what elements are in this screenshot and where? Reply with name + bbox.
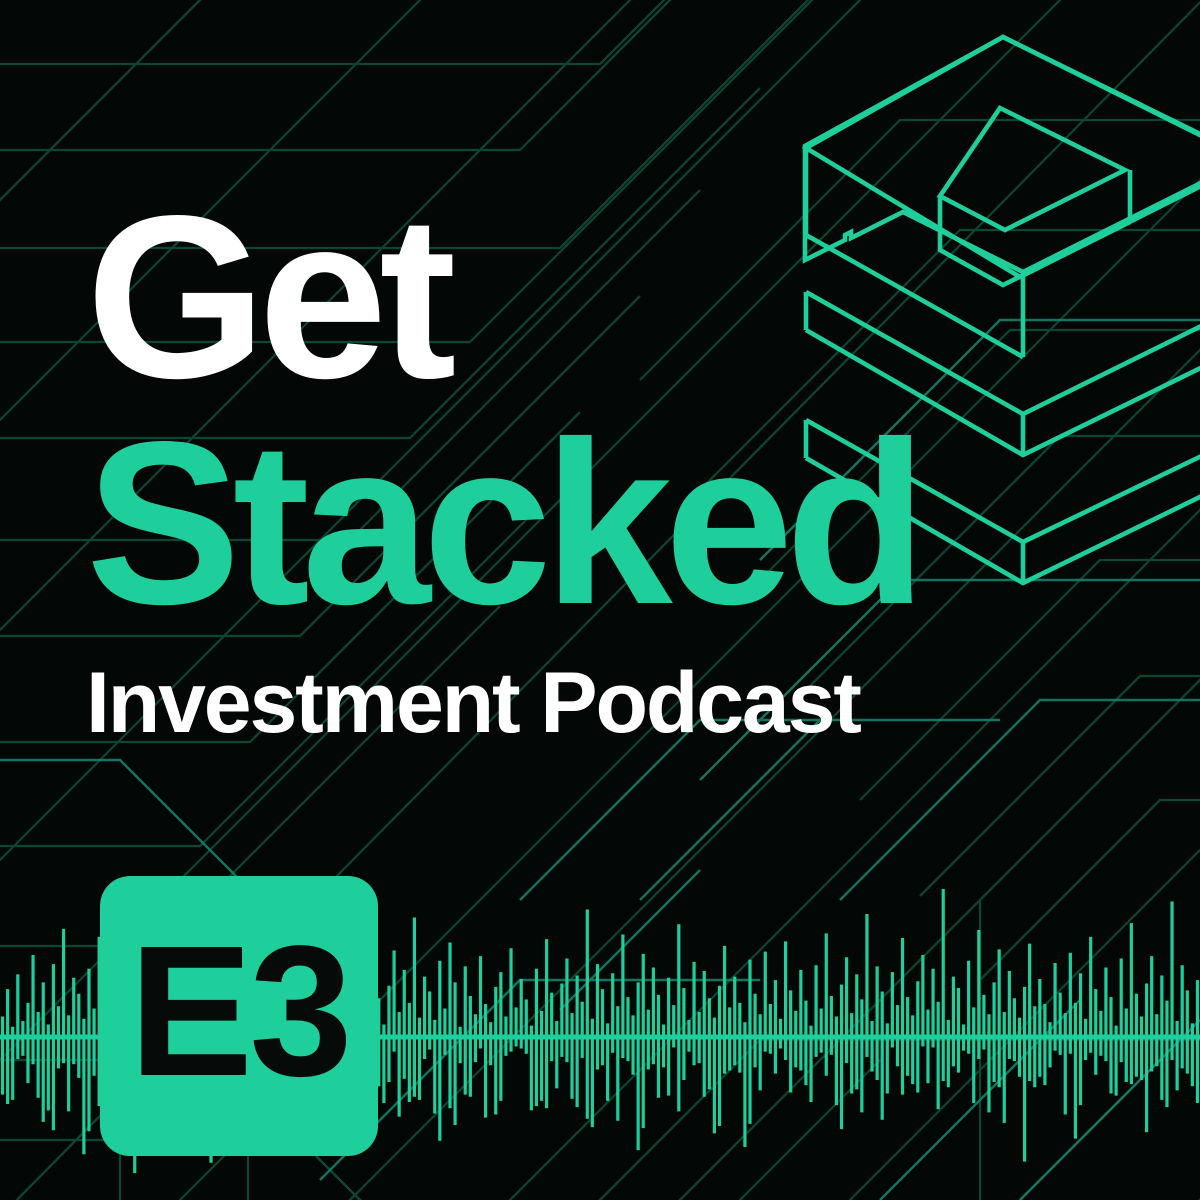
episode-badge: E3 <box>100 876 378 1156</box>
episode-badge-label: E3 <box>129 919 349 1105</box>
podcast-cover-art: Get Stacked Investment Podcast E3 <box>0 0 1200 1200</box>
